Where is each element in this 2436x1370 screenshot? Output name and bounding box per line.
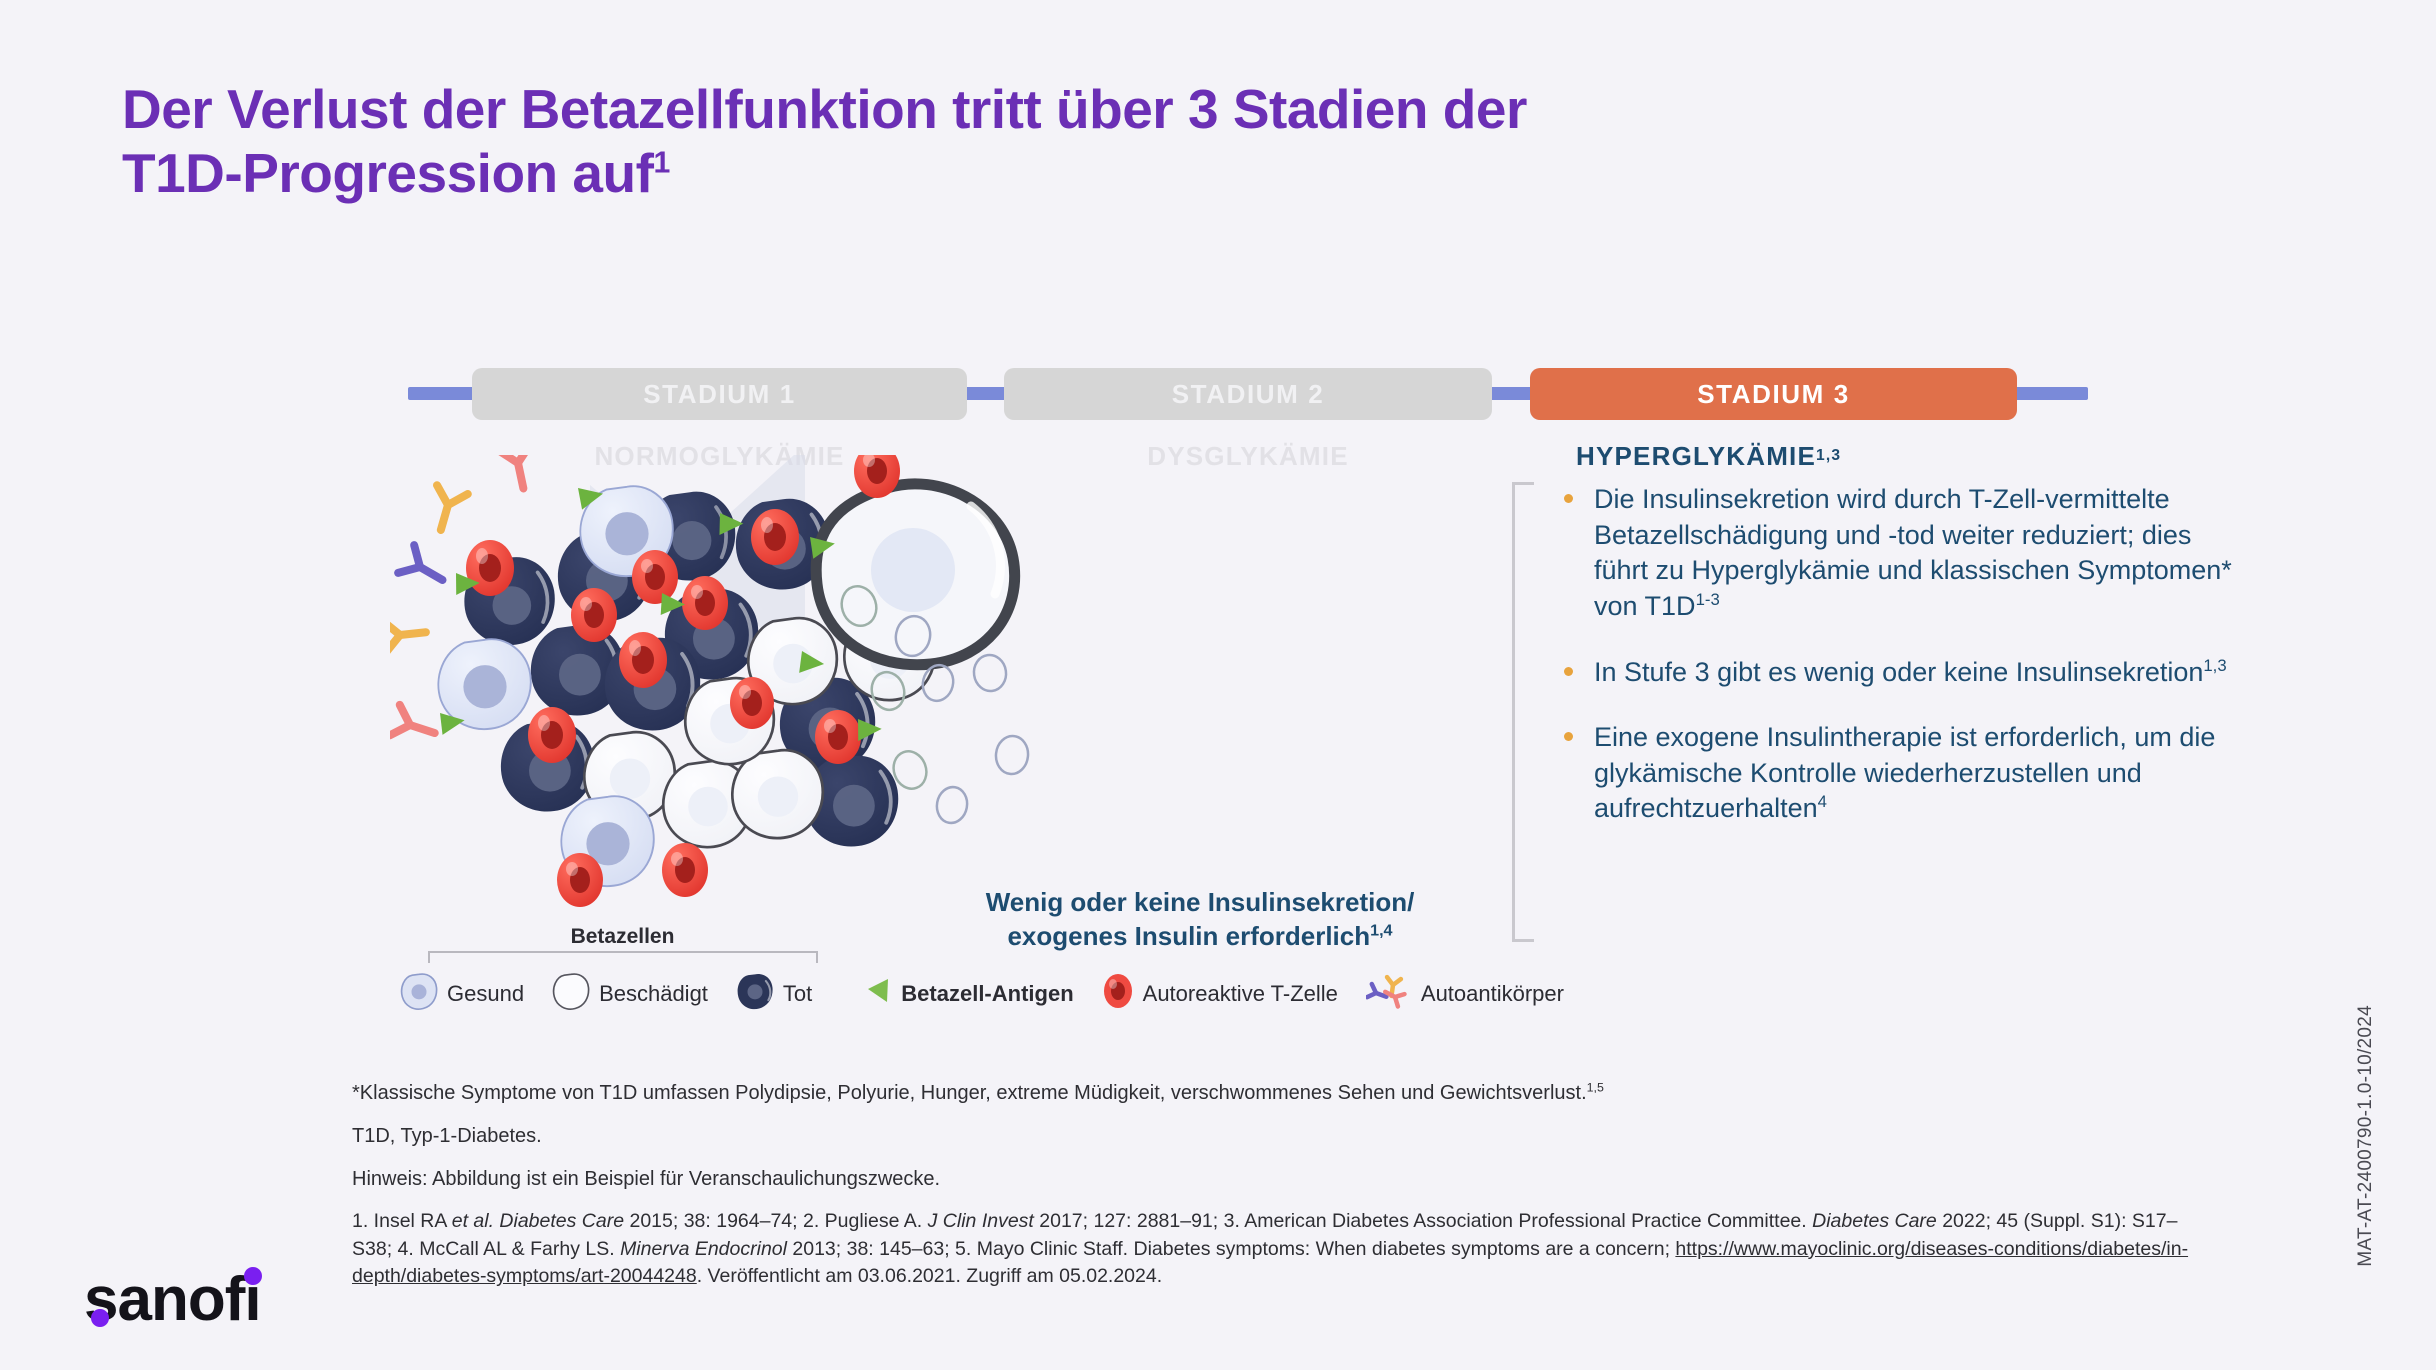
reference-text: 1. Insel RA	[352, 1210, 452, 1232]
green-triangle-antigen-icon	[866, 976, 892, 1012]
bullet-sup: 1,3	[2203, 656, 2226, 675]
stage-state-label-3: HYPERGLYKÄMIE1,3	[1530, 436, 2017, 476]
page-title: Der Verlust der Betazellfunktion tritt ü…	[122, 78, 2302, 206]
list-item: Eine exogene Insulintherapie ist erforde…	[1560, 720, 2252, 827]
bullet-dot-icon	[1564, 494, 1573, 503]
legend: Betazellen Gesund Beschädigt Tot	[400, 925, 1720, 1015]
stage-box-2-label: STADIUM 2	[1172, 379, 1325, 410]
legend-item-dead: Tot	[736, 971, 812, 1017]
timeline-rail-segment	[408, 387, 480, 400]
healthy-beta-cell-icon	[400, 971, 438, 1017]
list-item: In Stufe 3 gibt es wenig oder keine Insu…	[1560, 655, 2252, 691]
footnote-symptoms-text: *Klassische Symptome von T1D umfassen Po…	[352, 1082, 1587, 1104]
legend-label-tcell: Autoreaktive T-Zelle	[1143, 981, 1338, 1007]
logo-accent-dot-upper	[244, 1267, 262, 1285]
y-shaped-autoantibody-icon	[1366, 973, 1412, 1015]
legend-label-dead: Tot	[783, 981, 812, 1007]
references: 1. Insel RA et al. Diabetes Care 2015; 3…	[352, 1208, 2212, 1291]
material-code: MAT-AT-2400790-1.0-10/2024	[2355, 1005, 2377, 1267]
legend-group-brace	[428, 951, 818, 963]
reference-text: . Veröffentlicht am 03.06.2021. Zugriff …	[697, 1265, 1162, 1287]
bullet-text: In Stufe 3 gibt es wenig oder keine Insu…	[1594, 657, 2203, 687]
footnote-symptoms-sup: 1,5	[1587, 1080, 1604, 1094]
bullet-list: Die Insulinsekretion wird durch T-Zell-v…	[1560, 482, 2252, 827]
legend-item-tcell: Autoreaktive T-Zelle	[1102, 972, 1338, 1016]
stage-box-2[interactable]: STADIUM 2	[1004, 368, 1492, 420]
legend-item-autoantibody: Autoantikörper	[1366, 973, 1564, 1015]
slide-canvas: Der Verlust der Betazellfunktion tritt ü…	[0, 0, 2436, 1370]
reference-journal: et al. Diabetes Care	[452, 1210, 624, 1232]
page-title-superscript: 1	[653, 146, 669, 179]
bullet-dot-icon	[1564, 667, 1573, 676]
list-item: Die Insulinsekretion wird durch T-Zell-v…	[1560, 482, 2252, 625]
footnote-note: Hinweis: Abbildung ist ein Beispiel für …	[352, 1164, 2232, 1194]
stage-timeline: STADIUM 1 STADIUM 2 STADIUM 3 NORMOGLYKÄ…	[400, 368, 2050, 420]
stage-box-1[interactable]: STADIUM 1	[472, 368, 967, 420]
legend-label-damaged: Beschädigt	[599, 981, 708, 1007]
legend-label-antigen: Betazell-Antigen	[901, 981, 1073, 1007]
footnotes: *Klassische Symptome von T1D umfassen Po…	[352, 1078, 2232, 1207]
page-title-line2: T1D-Progression auf	[122, 142, 653, 204]
page-title-line1: Der Verlust der Betazellfunktion tritt ü…	[122, 78, 1527, 140]
legend-group-label: Betazellen	[430, 925, 815, 949]
damaged-beta-cell-icon	[552, 971, 590, 1017]
reference-text: 2015; 38: 1964–74; 2. Pugliese A.	[624, 1210, 928, 1232]
bullet-sup: 1-3	[1696, 590, 1720, 609]
legend-item-damaged: Beschädigt	[552, 971, 708, 1017]
stage-box-1-label: STADIUM 1	[643, 379, 796, 410]
svg-text:sanofi: sanofi	[84, 1265, 261, 1334]
legend-item-healthy: Gesund	[400, 971, 524, 1017]
legend-items-row: Gesund Beschädigt Tot Betazell-Antigen	[400, 973, 1582, 1015]
red-t-cell-icon	[1102, 972, 1134, 1016]
legend-label-healthy: Gesund	[447, 981, 524, 1007]
dead-beta-cell-icon	[736, 971, 774, 1017]
bullet-dot-icon	[1564, 732, 1573, 741]
reference-text: 2017; 127: 2881–91; 3. American Diabetes…	[1034, 1210, 1812, 1232]
bullet-text: Eine exogene Insulintherapie ist erforde…	[1594, 722, 2215, 823]
stage-state-sup-3: 1,3	[1816, 447, 1841, 465]
stage-box-3-label: STADIUM 3	[1697, 379, 1850, 410]
reference-text: 2013; 38: 145–63; 5. Mayo Clinic Staff. …	[787, 1238, 1675, 1260]
center-caption-line1: Wenig oder keine Insulinsekretion/	[986, 887, 1415, 917]
timeline-rail-segment	[2010, 387, 2088, 400]
stage-box-3[interactable]: STADIUM 3	[1530, 368, 2017, 420]
logo-accent-dot-lower	[91, 1309, 109, 1327]
damaged-beta-cell-magnified	[816, 484, 1015, 665]
reference-journal: Diabetes Care	[1812, 1210, 1937, 1232]
footnote-symptoms: *Klassische Symptome von T1D umfassen Po…	[352, 1078, 2232, 1108]
legend-label-autoantibody: Autoantikörper	[1421, 981, 1564, 1007]
stage-state-text-3: HYPERGLYKÄMIE	[1576, 441, 1816, 472]
panel-bracket	[1512, 482, 1534, 942]
legend-item-antigen: Betazell-Antigen	[866, 976, 1073, 1012]
bullet-sup: 4	[1818, 792, 1827, 811]
footnote-abbreviation: T1D, Typ-1-Diabetes.	[352, 1121, 2232, 1151]
sanofi-logo: sanofi	[78, 1258, 318, 1344]
reference-journal: J Clin Invest	[928, 1210, 1034, 1232]
bullet-text: Die Insulinsekretion wird durch T-Zell-v…	[1594, 484, 2232, 621]
reference-journal: Minerva Endocrinol	[620, 1238, 787, 1260]
stage3-detail-panel: Die Insulinsekretion wird durch T-Zell-v…	[1512, 482, 2252, 827]
beta-cell-illustration	[390, 455, 1500, 925]
